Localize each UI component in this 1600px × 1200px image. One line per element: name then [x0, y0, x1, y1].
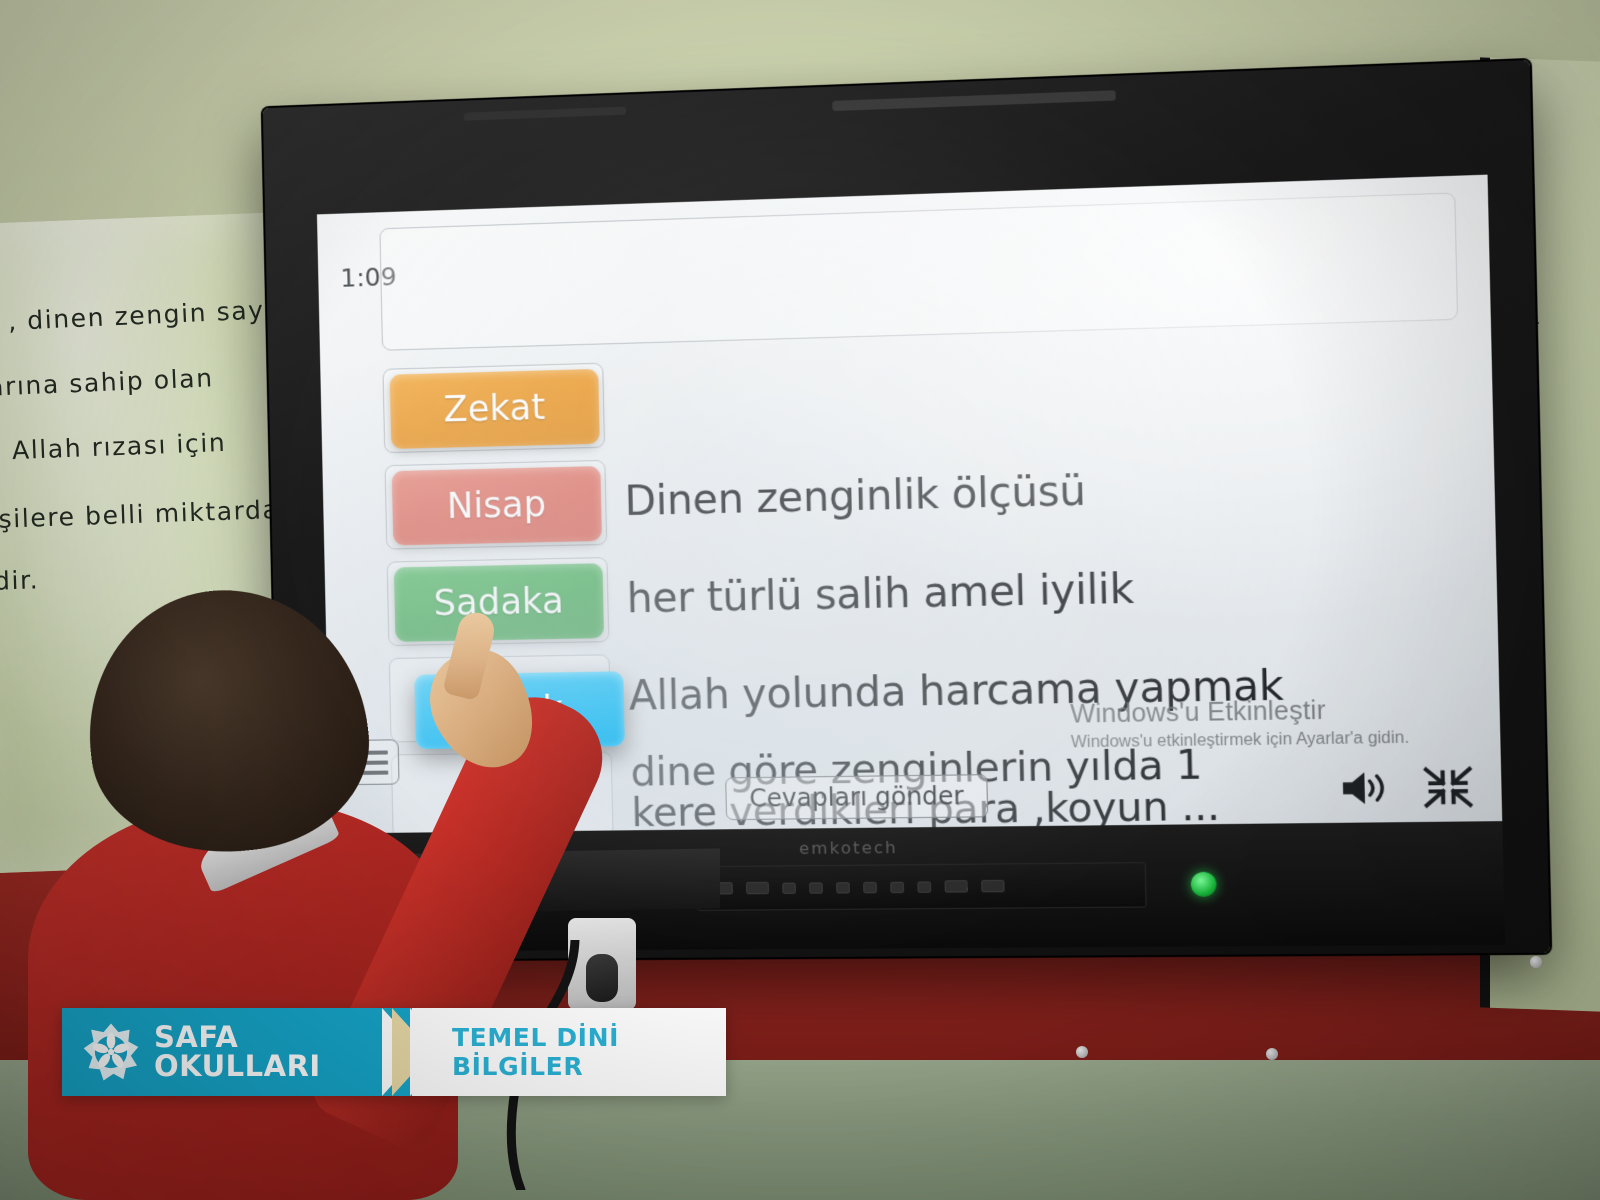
answer-text-2: Dinen zenginlik ölçüsü	[606, 459, 1474, 526]
safa-rosette-logo-icon	[80, 1021, 142, 1083]
display-port-panel	[696, 862, 1146, 911]
brand-name: SAFA OKULLARI	[154, 1023, 321, 1081]
drop-slot-2[interactable]: Nisap	[385, 460, 608, 550]
whiteboard-handwriting-line-5: dir.	[0, 565, 40, 595]
hdmi-port-2	[945, 880, 968, 893]
question-prompt-box[interactable]	[379, 192, 1458, 350]
matching-row-1: Zekat	[382, 337, 1471, 454]
matching-row-2: Nisap Dinen zenginlik ölçüsü	[385, 438, 1474, 551]
display-top-sensor-bar	[832, 90, 1116, 111]
tile-sadaka[interactable]: Sadaka	[394, 563, 604, 642]
exit-fullscreen-icon[interactable]	[1423, 765, 1474, 809]
answer-text-4: Allah yolunda harcama yapmak	[610, 659, 1478, 720]
control-button-5[interactable]	[917, 881, 931, 892]
player-corner-controls	[1338, 765, 1473, 810]
control-button-4[interactable]	[890, 881, 904, 892]
display-top-sensor-bar-2	[464, 107, 627, 121]
drop-slot-1[interactable]: Zekat	[382, 363, 605, 454]
chevron-accent-icon	[354, 1008, 464, 1096]
hdmi-port-3	[981, 880, 1004, 893]
control-button-1[interactable]	[809, 882, 823, 893]
tile-nisap[interactable]: Nisap	[392, 466, 602, 545]
hdmi-port	[746, 882, 769, 894]
subject-title: TEMEL DİNİ BİLGİLER	[452, 1023, 726, 1081]
wall-screw-3	[1530, 956, 1542, 968]
power-indicator-led[interactable]	[1191, 872, 1217, 897]
answer-text-1	[604, 382, 1470, 405]
drop-slot-3[interactable]: Sadaka	[387, 557, 610, 646]
screenshot-stage: , dinen zengin sayılan arına sahip olan …	[0, 0, 1600, 1200]
brand-banner-left: SAFA OKULLARI	[62, 1008, 412, 1096]
answer-text-3: her türlü salih amel iyilik	[608, 559, 1476, 623]
control-button-2[interactable]	[836, 882, 850, 893]
brand-name-line-2: OKULLARI	[154, 1052, 321, 1081]
wall-screw-2	[1266, 1048, 1278, 1060]
brand-name-line-1: SAFA	[154, 1023, 321, 1052]
control-button-3[interactable]	[863, 881, 877, 892]
matching-row-3: Sadaka her türlü salih amel iyilik	[387, 538, 1476, 647]
display-brand-label: emkotech	[799, 838, 898, 858]
speaker-volume-icon[interactable]	[1338, 766, 1389, 810]
tile-zekat[interactable]: Zekat	[390, 369, 600, 449]
menu-bar-3	[362, 770, 388, 774]
wall-screw-1	[1076, 1046, 1088, 1058]
submit-answers-button[interactable]: Cevapları gönder	[725, 774, 988, 820]
audio-port	[782, 882, 796, 893]
brand-banner: SAFA OKULLARI TEMEL DİNİ BİLGİLER	[62, 1008, 726, 1096]
